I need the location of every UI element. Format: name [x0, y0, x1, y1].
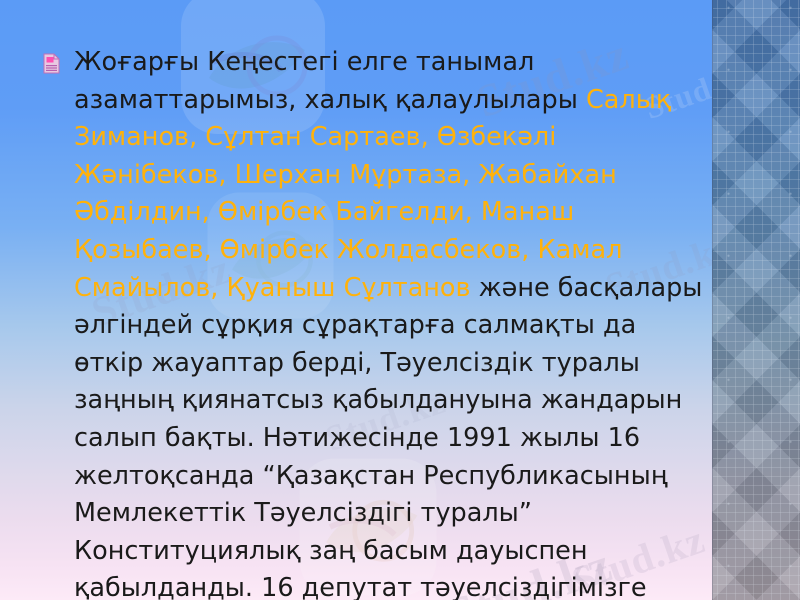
decorative-side-panel — [712, 0, 800, 600]
body-text-run: және басқалары әлгіндей сұрқия сұрақтарғ… — [74, 273, 702, 600]
highlighted-text-run: Салық Зиманов, Сұлтан Сартаев, Өзбекәлі … — [74, 85, 671, 303]
presentation-slide: Stud.kz Stud.kz Stud.kz Stud.kz Stud.kz … — [0, 0, 800, 600]
body-text-run: Жоғарғы Кеңестегі елге танымал азаматтар… — [74, 47, 586, 115]
slide-paragraph: Жоғарғы Кеңестегі елге танымал азаматтар… — [43, 44, 703, 600]
slide-body: Жоғарғы Кеңестегі елге танымал азаматтар… — [43, 44, 703, 600]
side-panel-pattern — [713, 0, 800, 600]
document-bullet-icon — [43, 53, 60, 74]
